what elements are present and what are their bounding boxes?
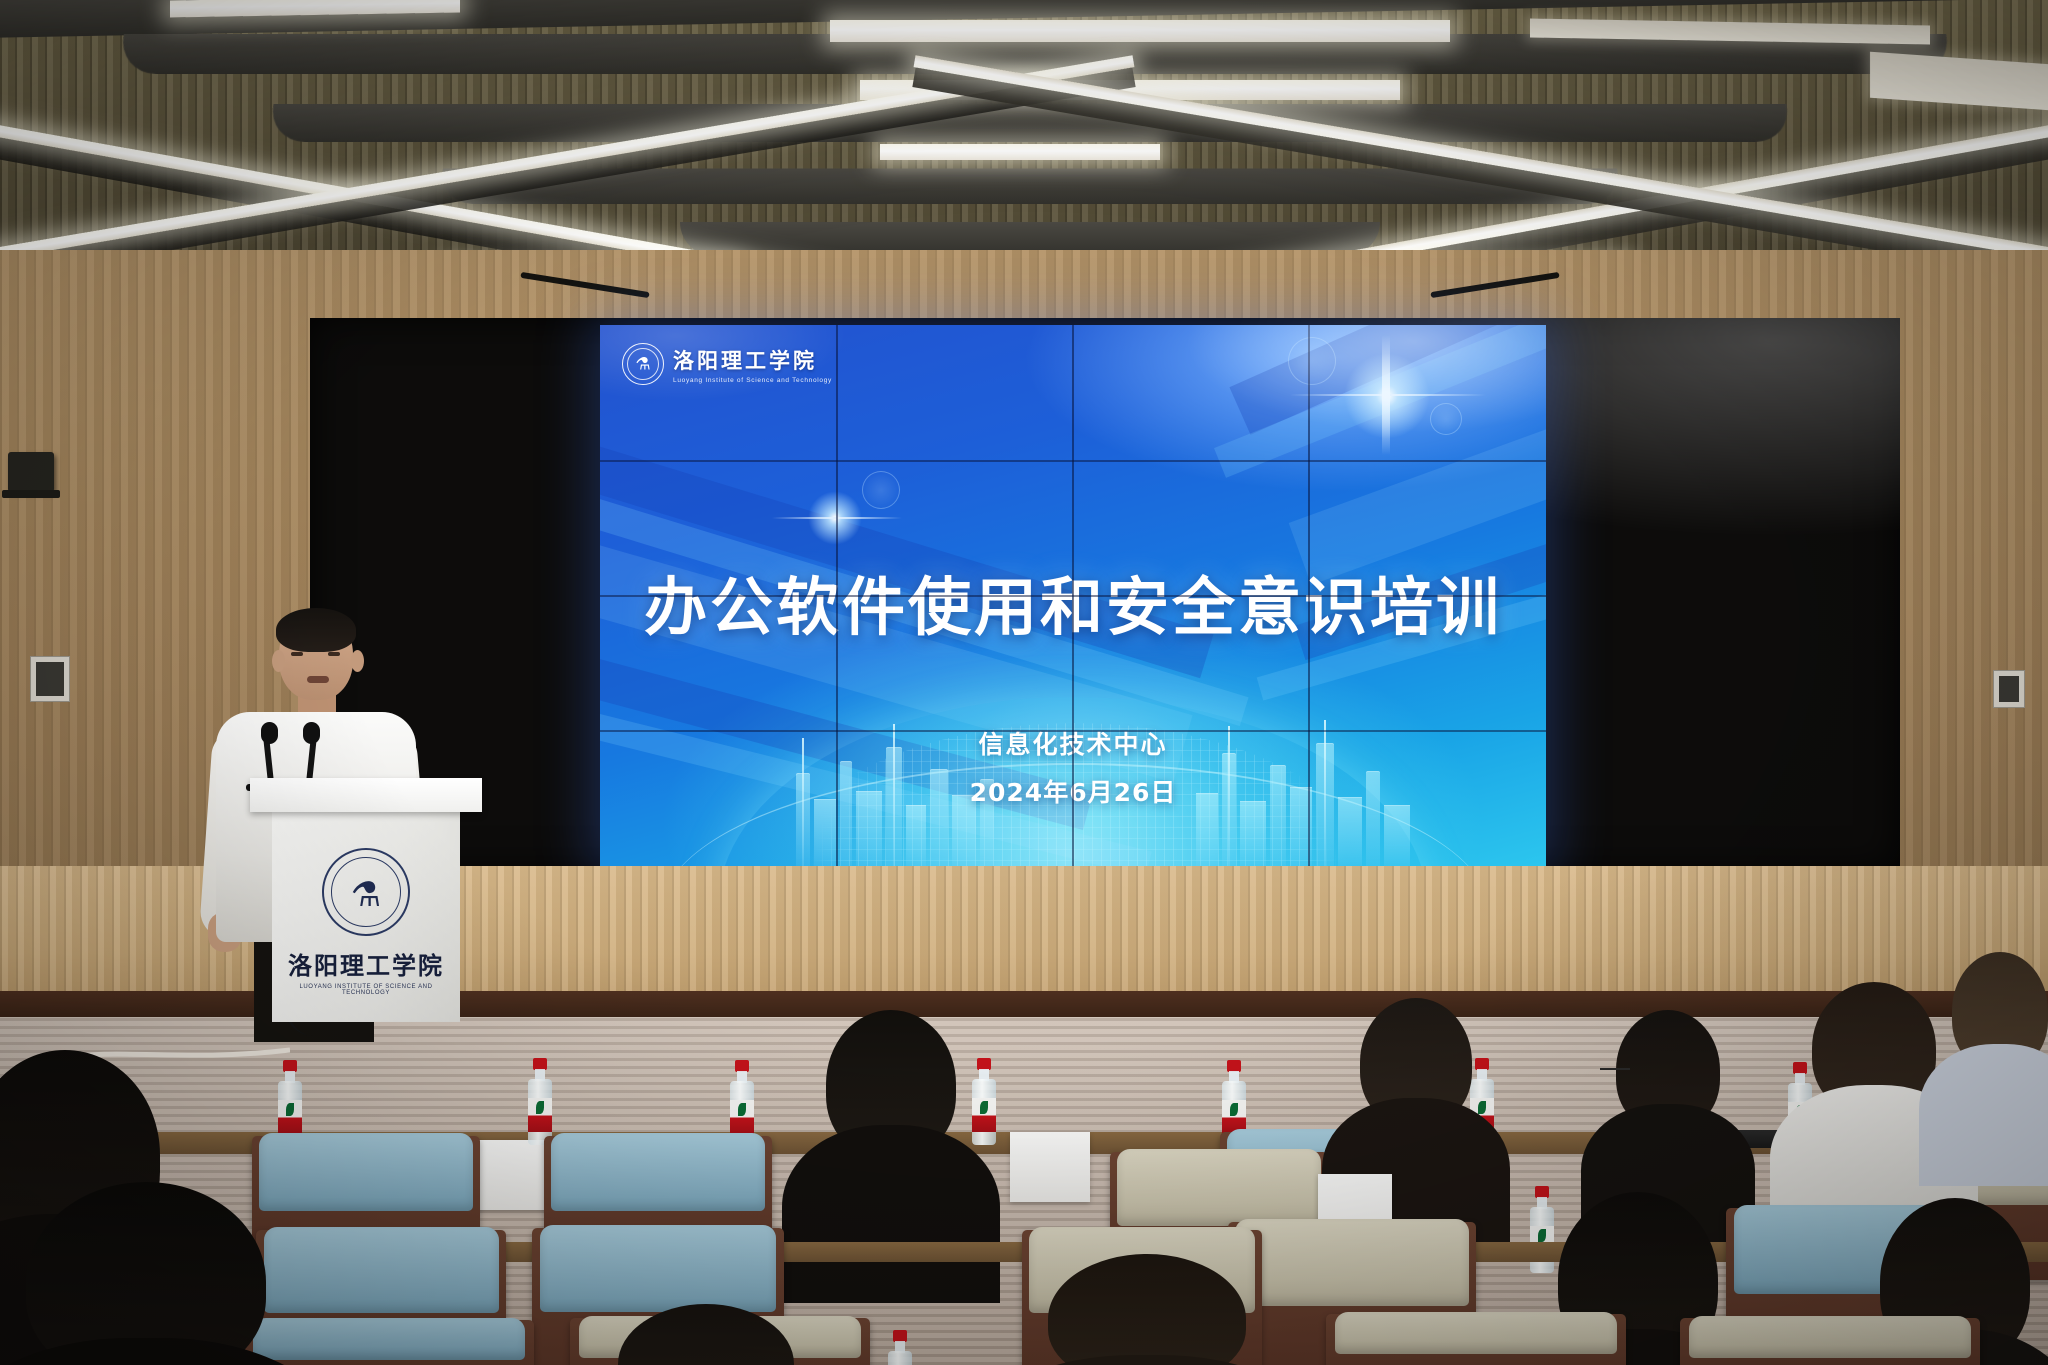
bottle-body xyxy=(888,1351,912,1365)
slide-institution-name-en: Luoyang Institute of Science and Technol… xyxy=(673,377,832,384)
microphone-capsule xyxy=(261,722,278,744)
bottle-leaf-icon xyxy=(738,1103,746,1116)
presenter-eye xyxy=(291,652,303,656)
university-seal-icon: ⚗ xyxy=(322,848,410,936)
slide-institution-name-zh: 洛阳理工学院 xyxy=(673,345,832,375)
microphone-capsule xyxy=(303,722,320,744)
bottle-leaf-icon xyxy=(1478,1101,1486,1114)
ceiling-light xyxy=(830,20,1450,42)
audience-member xyxy=(1952,952,2048,1070)
podium: ⚗ 洛阳理工学院 LUOYANG INSTITUTE OF SCIENCE AN… xyxy=(262,778,470,1022)
ceiling-light xyxy=(880,144,1160,160)
presenter-mouth xyxy=(307,676,329,683)
panel-seam-horizontal xyxy=(600,730,1546,732)
presenter-ear xyxy=(351,650,364,672)
bottle-leaf-icon xyxy=(286,1103,294,1116)
presenter-ear xyxy=(272,650,285,672)
podium-logo: ⚗ 洛阳理工学院 LUOYANG INSTITUTE OF SCIENCE AN… xyxy=(281,848,451,996)
panel-seam-horizontal xyxy=(600,595,1546,597)
seat-row3[interactable] xyxy=(244,1320,534,1365)
light-switch-panel[interactable] xyxy=(30,656,70,702)
audience-member xyxy=(826,1010,956,1158)
bottle-leaf-icon xyxy=(536,1101,544,1114)
desk-row1 xyxy=(1010,1132,1090,1202)
audience-member xyxy=(26,1182,266,1365)
light-switch-panel[interactable] xyxy=(1993,670,2025,708)
podium-institution-name-zh: 洛阳理工学院 xyxy=(281,946,451,981)
led-video-wall[interactable]: ⚗ 洛阳理工学院 Luoyang Institute of Science an… xyxy=(600,325,1546,866)
bottle-leaf-icon xyxy=(980,1101,988,1114)
seat-row3[interactable] xyxy=(1326,1314,1626,1365)
seal-glyph: ⚗ xyxy=(351,878,381,912)
audience-member xyxy=(1812,982,1936,1114)
audience-member xyxy=(1048,1254,1246,1365)
podium-institution-name-en: LUOYANG INSTITUTE OF SCIENCE AND TECHNOL… xyxy=(281,984,451,996)
seat-row3[interactable] xyxy=(1680,1318,1980,1365)
eyeglasses-icon xyxy=(1600,1068,1630,1070)
auditorium-photo: ⚗ 洛阳理工学院 Luoyang Institute of Science an… xyxy=(0,0,2048,1365)
wall-speaker xyxy=(8,452,54,492)
podium-top-surface xyxy=(250,778,482,812)
bottle-leaf-icon xyxy=(1538,1229,1546,1242)
audience-member xyxy=(1616,1010,1720,1130)
seal-glyph: ⚗ xyxy=(635,356,650,373)
audience-member xyxy=(618,1304,794,1365)
presenter-eye xyxy=(328,652,340,656)
panel-seam-horizontal xyxy=(600,460,1546,462)
university-seal-icon: ⚗ xyxy=(622,343,664,385)
bottle-leaf-icon xyxy=(1230,1103,1238,1116)
presenter-hair xyxy=(276,608,356,652)
wall-speaker-bracket xyxy=(2,490,60,498)
audience-member xyxy=(1360,998,1472,1126)
slide-institution-logo: ⚗ 洛阳理工学院 Luoyang Institute of Science an… xyxy=(622,343,832,385)
